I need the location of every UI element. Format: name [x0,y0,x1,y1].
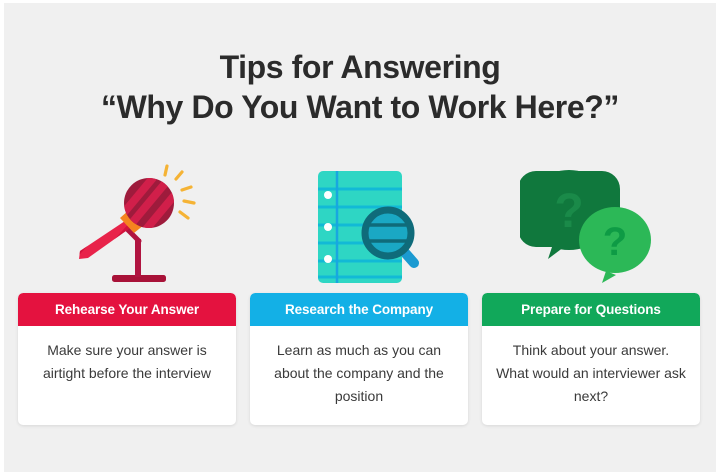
speech-bubble-front: ? [579,207,651,283]
tip-card-header-research: Research the Company [250,293,468,326]
icons-row: ? ? [4,163,716,291]
tip-card-header-prepare: Prepare for Questions [482,293,700,326]
tip-card-header-rehearse: Rehearse Your Answer [18,293,236,326]
microphone-icon [18,163,242,291]
tip-card-body-prepare: Think about your answer. What would an i… [482,326,700,408]
infographic-canvas: Tips for Answering “Why Do You Want to W… [0,0,720,475]
tip-card-body-research: Learn as much as you can about the compa… [250,326,468,408]
tip-card-body-rehearse: Make sure your answer is airtight before… [18,326,236,385]
tip-card-research[interactable]: Research the Company Learn as much as yo… [250,293,468,425]
question-mark-back: ? [554,185,583,238]
tips-cards-row: Rehearse Your Answer Make sure your answ… [4,293,716,428]
title-line-2: “Why Do You Want to Work Here?” [4,87,716,127]
mic-stand-pole [135,239,141,277]
title-line-1: Tips for Answering [4,47,716,87]
question-speech-bubbles-icon: ? ? [478,163,702,291]
question-mark-front: ? [603,220,627,264]
tip-card-rehearse[interactable]: Rehearse Your Answer Make sure your answ… [18,293,236,425]
page-title: Tips for Answering “Why Do You Want to W… [4,47,716,127]
infographic-background: Tips for Answering “Why Do You Want to W… [4,3,716,472]
notebook-magnifier-icon [248,163,472,291]
tip-card-prepare[interactable]: Prepare for Questions Think about your a… [482,293,700,425]
